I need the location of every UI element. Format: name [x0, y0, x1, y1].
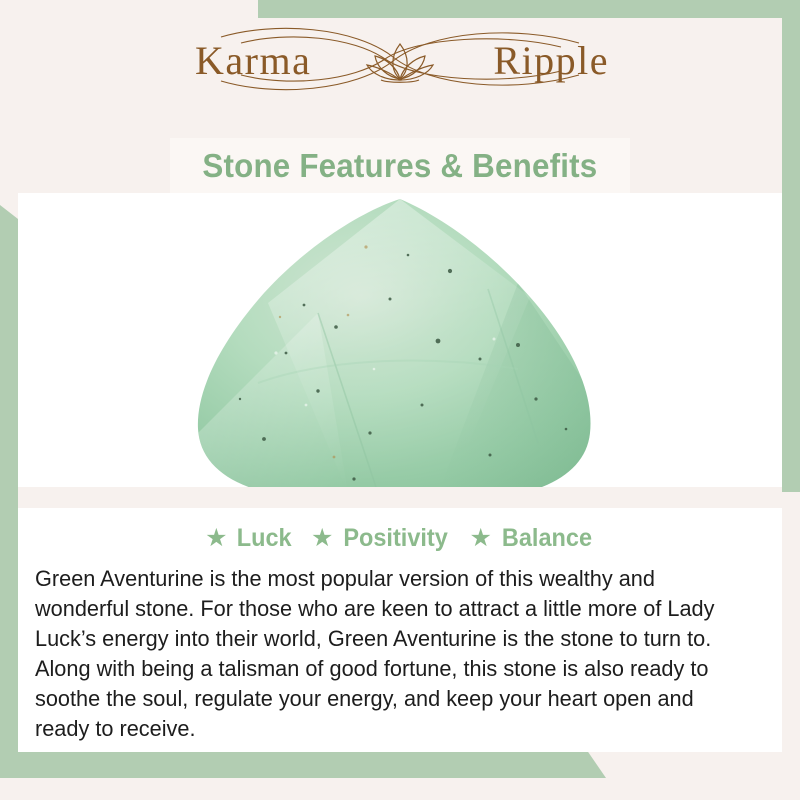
keyword-label: Balance: [502, 524, 592, 553]
keyword-label: Luck: [236, 524, 291, 553]
star-icon: ★: [311, 526, 333, 551]
infographic-page: Karma Ripple Stone Features & Benefits: [0, 0, 800, 800]
keyword-list: ★ Luck ★ Positivity ★ Balance: [18, 508, 782, 553]
brand-name-left: Karma: [195, 37, 311, 84]
keyword-item: ★ Luck: [205, 524, 293, 553]
lotus-icon: [367, 44, 433, 82]
page-title: Stone Features & Benefits: [203, 147, 598, 185]
keyword-label: Positivity: [344, 524, 448, 553]
content-card: ★ Luck ★ Positivity ★ Balance Green Aven…: [18, 508, 782, 752]
divider-strip: [18, 487, 782, 508]
brand-header: Karma Ripple: [0, 0, 800, 118]
star-icon: ★: [470, 526, 492, 551]
stone-image-graphic: [18, 193, 782, 487]
keyword-item: ★ Balance: [470, 524, 595, 553]
description-paragraph: Green Aventurine is the most popular ver…: [35, 564, 742, 744]
star-icon: ★: [205, 526, 227, 551]
keyword-item: ★ Positivity: [311, 524, 452, 553]
frame-border-left: [0, 205, 18, 746]
brand-logo: Karma Ripple: [185, 17, 615, 101]
stone-photo: Green Aventurine: [18, 193, 782, 487]
section-title-banner: Stone Features & Benefits: [170, 138, 630, 194]
brand-name-right: Ripple: [493, 37, 609, 84]
